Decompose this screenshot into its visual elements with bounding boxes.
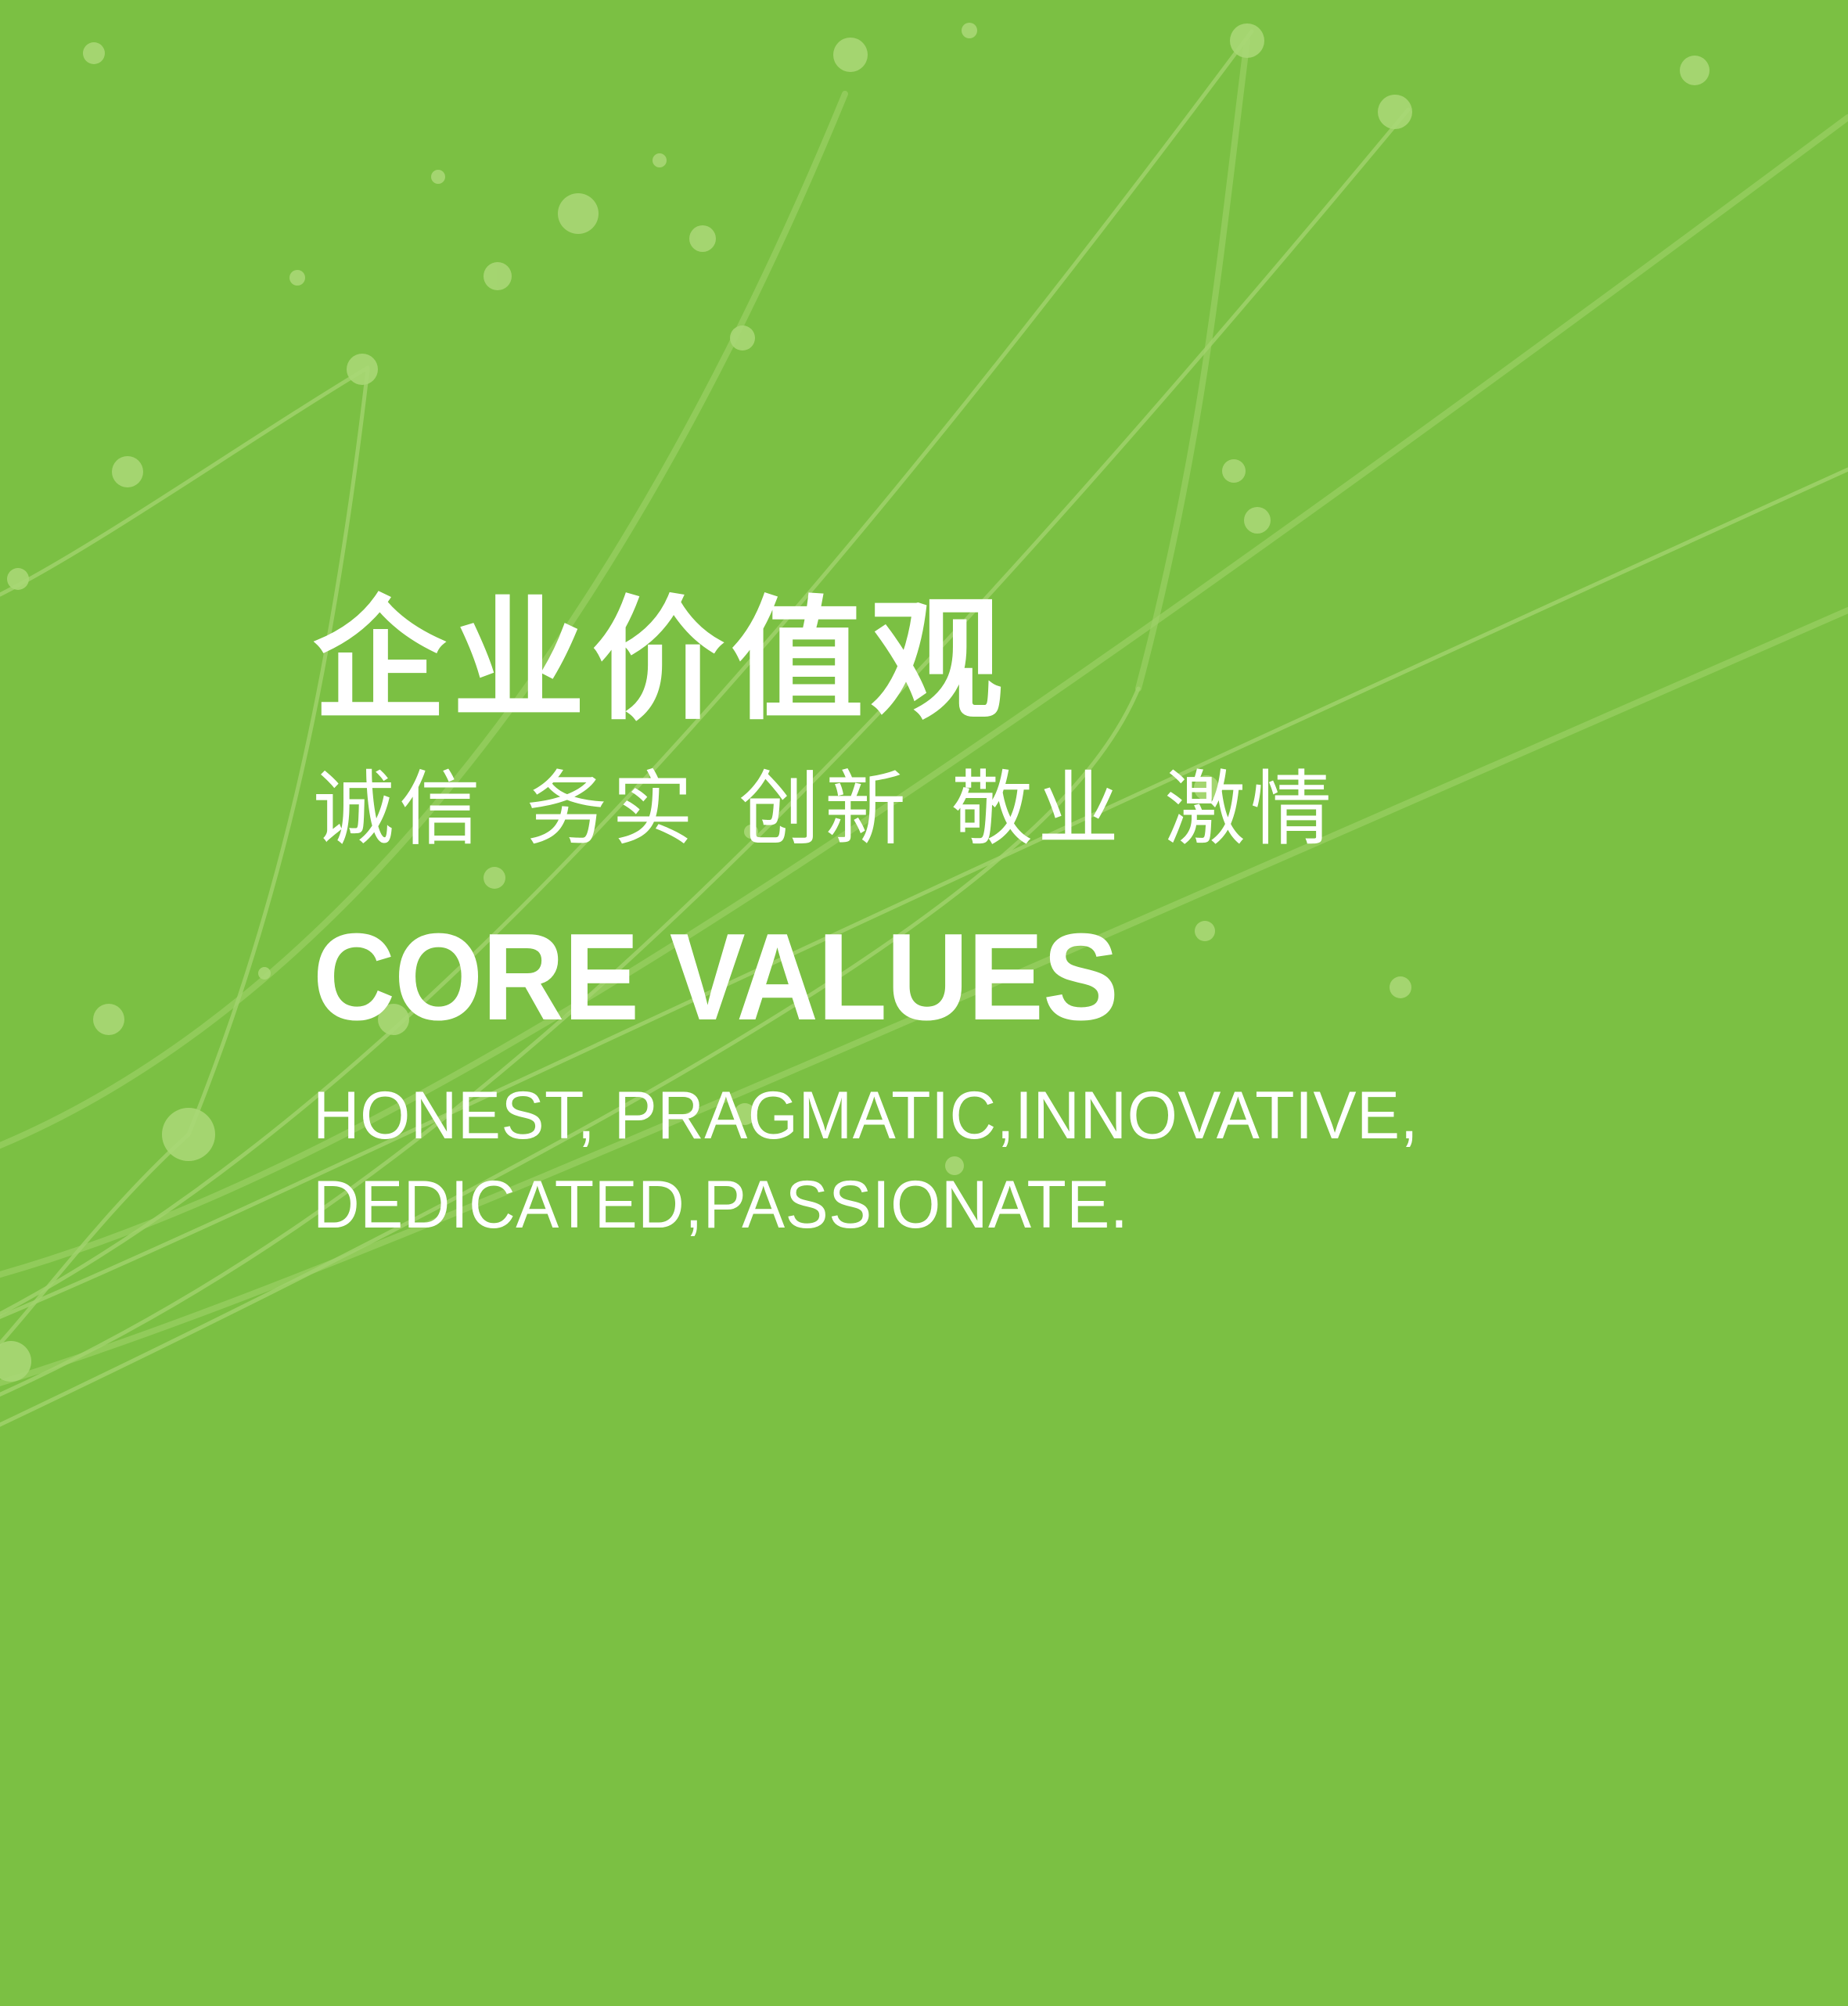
network-node [962, 23, 977, 38]
network-node [347, 354, 378, 385]
text-content-block: 企业价值观 诚信务实创新敬业激情 CORE VALUES HONEST, PRA… [313, 595, 1721, 1250]
value-word-1: 诚信 [313, 761, 485, 857]
network-node [1378, 95, 1412, 129]
network-node [289, 270, 305, 286]
network-node [689, 225, 716, 252]
subtitle-english: HONEST, PRAGMATIC,INNOVATIVE, DEDICATED,… [313, 1072, 1665, 1249]
value-word-3: 创新 [739, 761, 911, 857]
page-title-chinese: 企业价值观 [313, 595, 1721, 728]
network-node [730, 325, 755, 351]
network-node [0, 1341, 31, 1382]
network-node [112, 456, 143, 487]
network-node [93, 1004, 124, 1035]
network-node [431, 170, 445, 184]
value-word-2: 务实 [526, 761, 698, 857]
network-node [1244, 507, 1271, 534]
subtitle-chinese: 诚信务实创新敬业激情 [313, 764, 1721, 854]
network-node [1230, 23, 1264, 58]
subtitle-english-line-2: DEDICATED,PASSIONATE. [313, 1161, 1665, 1250]
network-node [258, 967, 271, 980]
network-node [484, 262, 512, 290]
poster-canvas: 企业价值观 诚信务实创新敬业激情 CORE VALUES HONEST, PRA… [0, 0, 1848, 2006]
value-word-5: 激情 [1164, 761, 1336, 857]
network-curve [0, 1134, 189, 1377]
network-curve [0, 368, 368, 595]
network-node [1680, 56, 1710, 85]
value-word-4: 敬业 [951, 761, 1124, 857]
subtitle-english-line-1: HONEST, PRAGMATIC,INNOVATIVE, [313, 1072, 1665, 1161]
network-node [7, 568, 29, 590]
network-node [653, 153, 667, 167]
network-node [833, 38, 868, 72]
network-node [83, 42, 105, 64]
network-curve [1138, 41, 1247, 688]
page-title-english: CORE VALUES [313, 915, 1609, 1039]
network-node [162, 1108, 215, 1161]
network-node [558, 193, 599, 234]
network-node [1222, 459, 1246, 483]
